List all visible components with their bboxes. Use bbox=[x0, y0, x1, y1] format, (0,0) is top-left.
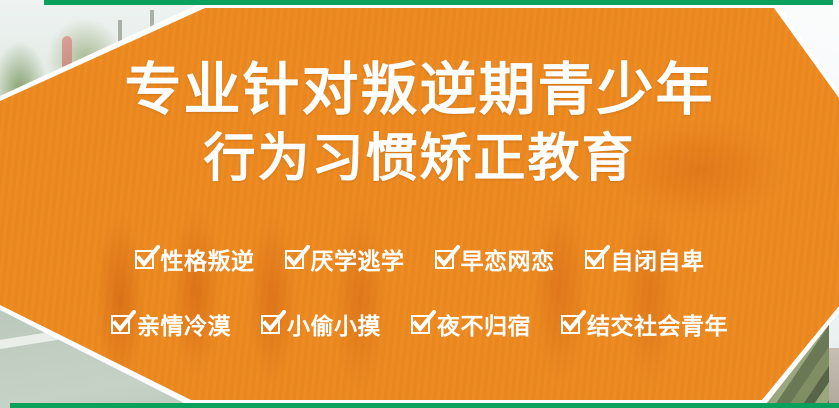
checkbox-checked-icon bbox=[585, 250, 604, 269]
tag-label: 性格叛逆 bbox=[161, 242, 255, 276]
tag-row-1: 性格叛逆 厌学逃学 早恋网恋 bbox=[0, 242, 839, 276]
checkbox-checked-icon bbox=[435, 250, 454, 269]
tag-label: 夜不归宿 bbox=[437, 307, 531, 341]
tag-item: 小偷小摸 bbox=[261, 307, 381, 341]
checkbox-checked-icon bbox=[111, 315, 130, 334]
tag-list: 性格叛逆 厌学逃学 早恋网恋 bbox=[0, 242, 839, 372]
checkbox-checked-icon bbox=[261, 315, 280, 334]
promo-banner: 专业针对叛逆期青少年 行为习惯矫正教育 性格叛逆 厌学逃学 bbox=[0, 0, 839, 408]
tag-label: 自闭自卑 bbox=[611, 242, 705, 276]
tag-label: 小偷小摸 bbox=[287, 307, 381, 341]
tag-label: 厌学逃学 bbox=[311, 242, 405, 276]
headline: 专业针对叛逆期青少年 行为习惯矫正教育 bbox=[0, 62, 839, 185]
tag-label: 结交社会青年 bbox=[587, 307, 728, 341]
tag-item: 自闭自卑 bbox=[585, 242, 705, 276]
banner-content: 专业针对叛逆期青少年 行为习惯矫正教育 性格叛逆 厌学逃学 bbox=[0, 0, 839, 408]
checkbox-checked-icon bbox=[561, 315, 580, 334]
headline-line-2: 行为习惯矫正教育 bbox=[0, 133, 839, 185]
checkbox-checked-icon bbox=[411, 315, 430, 334]
tag-item: 亲情冷漠 bbox=[111, 307, 231, 341]
headline-line-1: 专业针对叛逆期青少年 bbox=[0, 62, 839, 119]
tag-item: 结交社会青年 bbox=[561, 307, 728, 341]
tag-label: 亲情冷漠 bbox=[137, 307, 231, 341]
tag-item: 早恋网恋 bbox=[435, 242, 555, 276]
checkbox-checked-icon bbox=[285, 250, 304, 269]
tag-item: 夜不归宿 bbox=[411, 307, 531, 341]
tag-label: 早恋网恋 bbox=[461, 242, 555, 276]
tag-row-2: 亲情冷漠 小偷小摸 夜不归宿 bbox=[0, 307, 839, 341]
checkbox-checked-icon bbox=[135, 250, 154, 269]
tag-item: 厌学逃学 bbox=[285, 242, 405, 276]
tag-item: 性格叛逆 bbox=[135, 242, 255, 276]
